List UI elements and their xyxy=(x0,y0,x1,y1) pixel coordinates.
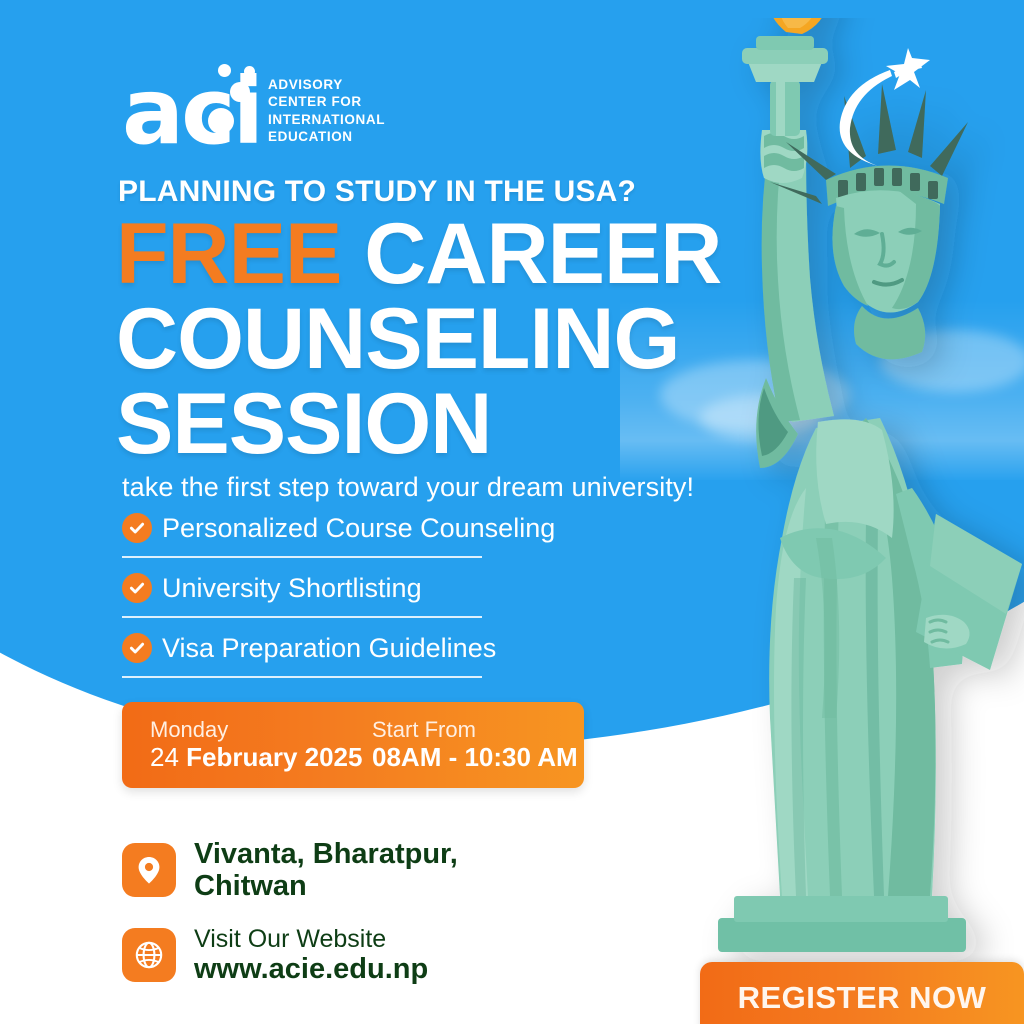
list-item: Visa Preparation Guidelines xyxy=(122,628,552,668)
location-text: Vivanta, Bharatpur, Chitwan xyxy=(194,838,458,903)
headline-counseling: COUNSELING xyxy=(116,291,679,387)
schedule-time-group: Start From 08AM - 10:30 AM xyxy=(372,717,578,773)
aci-logo: aci ADVISORY CENTER FOR INTERNATIONAL ED… xyxy=(122,62,385,150)
schedule-time-value: 08AM - 10:30 AM xyxy=(372,742,578,773)
website-label: Visit Our Website xyxy=(194,925,428,953)
location-value: Vivanta, Bharatpur, Chitwan xyxy=(194,838,458,902)
website-row[interactable]: Visit Our Website www.acie.edu.np xyxy=(122,925,458,985)
schedule-date-day: 24 xyxy=(150,742,179,772)
feature-list: Personalized Course Counseling Universit… xyxy=(122,508,552,688)
map-pin-icon xyxy=(122,843,176,897)
subtitle-text: take the first step toward your dream un… xyxy=(122,472,694,503)
schedule-day-label: Monday xyxy=(150,717,372,742)
bubbles-icon xyxy=(244,66,255,77)
kicker-text: PLANNING TO STUDY IN THE USA? xyxy=(118,175,636,209)
list-divider xyxy=(122,676,482,678)
poster-canvas: aci ADVISORY CENTER FOR INTERNATIONAL ED… xyxy=(0,0,1024,1024)
logo-wordmark: aci xyxy=(122,66,261,158)
list-item: University Shortlisting xyxy=(122,568,552,608)
schedule-time-label: Start From xyxy=(372,717,578,742)
bubbles-icon xyxy=(230,82,250,102)
schedule-date-group: Monday 24 February 2025 xyxy=(150,717,372,773)
list-divider xyxy=(122,616,482,618)
website-value[interactable]: www.acie.edu.np xyxy=(194,953,428,985)
logo-mark: aci xyxy=(122,62,254,150)
headline-free: FREE xyxy=(116,206,341,302)
headline-career: CAREER xyxy=(341,206,721,302)
schedule-date-month-year: February 2025 xyxy=(186,742,362,772)
list-item: Personalized Course Counseling xyxy=(122,508,552,548)
list-divider xyxy=(122,556,482,558)
page-title: FREE CAREER COUNSELING SESSION xyxy=(116,212,736,467)
website-text: Visit Our Website www.acie.edu.np xyxy=(194,925,428,985)
list-item-label: Visa Preparation Guidelines xyxy=(162,633,496,664)
register-now-button[interactable]: REGISTER NOW xyxy=(700,962,1024,1024)
check-circle-icon xyxy=(122,573,152,603)
bubbles-icon xyxy=(218,64,231,77)
contact-block: Vivanta, Bharatpur, Chitwan Visit Our We… xyxy=(122,838,458,1007)
schedule-banner: Monday 24 February 2025 Start From 08AM … xyxy=(122,702,584,788)
bubbles-icon xyxy=(208,108,234,134)
list-item-label: Personalized Course Counseling xyxy=(162,513,555,544)
list-item-label: University Shortlisting xyxy=(162,573,422,604)
schedule-date-value: 24 February 2025 xyxy=(150,742,372,773)
check-circle-icon xyxy=(122,633,152,663)
headline-session: SESSION xyxy=(116,376,491,472)
location-row: Vivanta, Bharatpur, Chitwan xyxy=(122,838,458,903)
globe-icon xyxy=(122,928,176,982)
logo-tagline: ADVISORY CENTER FOR INTERNATIONAL EDUCAT… xyxy=(268,76,385,150)
check-circle-icon xyxy=(122,513,152,543)
